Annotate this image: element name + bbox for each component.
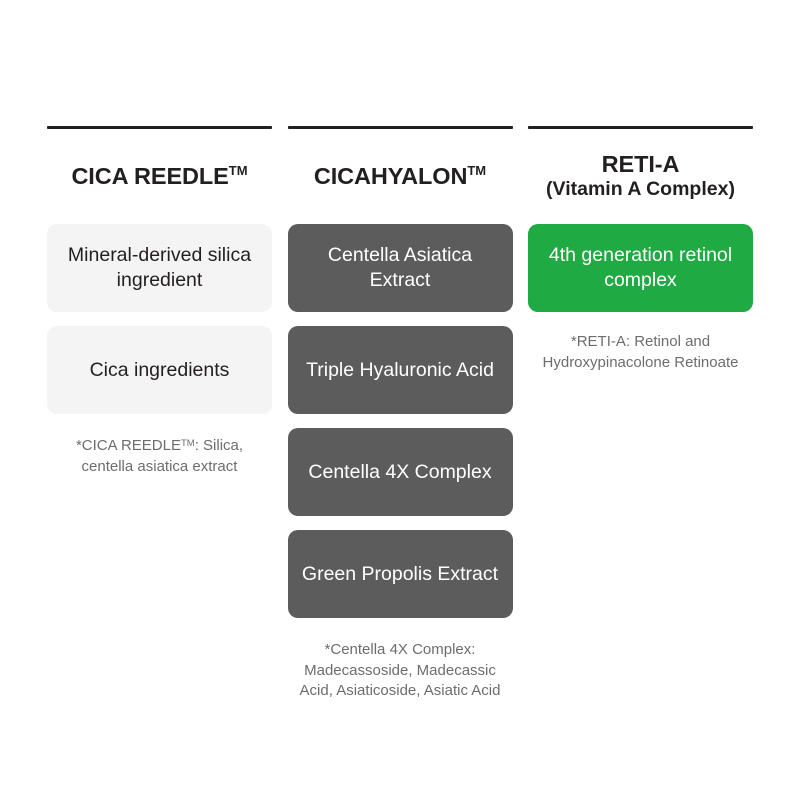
column-heading-block: CICAHYALONTM: [288, 129, 513, 224]
column-title: CICA REEDLETM: [71, 163, 247, 189]
trademark-symbol: TM: [229, 163, 248, 178]
ingredient-card: Centella 4X Complex: [288, 428, 513, 516]
column-title: RETI-A: [602, 151, 680, 177]
column-footnote: *RETI-A: Retinol and Hydroxypinacolone R…: [528, 332, 753, 373]
column-title-text: RETI-A: [602, 151, 680, 177]
column-footnote-prefix: *CICA REEDLE: [76, 437, 181, 454]
ingredient-card-label: Triple Hyaluronic Acid: [306, 358, 494, 383]
ingredient-card-highlight: 4th generation retinol complex: [528, 224, 753, 312]
ingredient-card-label: Centella 4X Complex: [308, 460, 491, 485]
column-reti-a: RETI-A (Vitamin A Complex) 4th generatio…: [528, 126, 753, 373]
ingredient-card-label: Centella Asiatica Extract: [302, 243, 499, 293]
column-cicahyalon: CICAHYALONTM Centella Asiatica Extract T…: [288, 126, 513, 702]
comparison-columns: CICA REEDLETM Mineral-derived silica ing…: [47, 126, 753, 702]
ingredient-card: Green Propolis Extract: [288, 530, 513, 618]
column-title-text: CICAHYALON: [314, 163, 468, 189]
ingredient-card: Centella Asiatica Extract: [288, 224, 513, 312]
trademark-symbol: TM: [467, 163, 486, 178]
ingredient-card: Mineral-derived silica ingredient: [47, 224, 272, 312]
ingredient-card: Cica ingredients: [47, 326, 272, 414]
ingredient-comparison-infographic: CICA REEDLETM Mineral-derived silica ing…: [0, 0, 800, 800]
ingredient-card-list: Mineral-derived silica ingredient Cica i…: [47, 224, 272, 414]
column-title-text: CICA REEDLE: [71, 163, 228, 189]
ingredient-card-label: 4th generation retinol complex: [542, 243, 739, 293]
ingredient-card-label: Mineral-derived silica ingredient: [61, 243, 258, 293]
ingredient-card-label: Cica ingredients: [90, 358, 230, 383]
trademark-symbol: TM: [181, 438, 195, 449]
column-heading-block: CICA REEDLETM: [47, 129, 272, 224]
column-title: CICAHYALONTM: [314, 163, 486, 189]
ingredient-card-list: Centella Asiatica Extract Triple Hyaluro…: [288, 224, 513, 618]
ingredient-card-label: Green Propolis Extract: [302, 562, 498, 587]
column-footnote: *Centella 4X Complex: Madecassoside, Mad…: [288, 640, 513, 702]
column-cica-reedle: CICA REEDLETM Mineral-derived silica ing…: [47, 126, 272, 477]
column-footnote: *CICA REEDLETM: Silica, centella asiatic…: [47, 436, 272, 477]
column-heading-block: RETI-A (Vitamin A Complex): [528, 129, 753, 224]
column-subtitle: (Vitamin A Complex): [546, 178, 735, 201]
ingredient-card-list: 4th generation retinol complex: [528, 224, 753, 312]
ingredient-card: Triple Hyaluronic Acid: [288, 326, 513, 414]
